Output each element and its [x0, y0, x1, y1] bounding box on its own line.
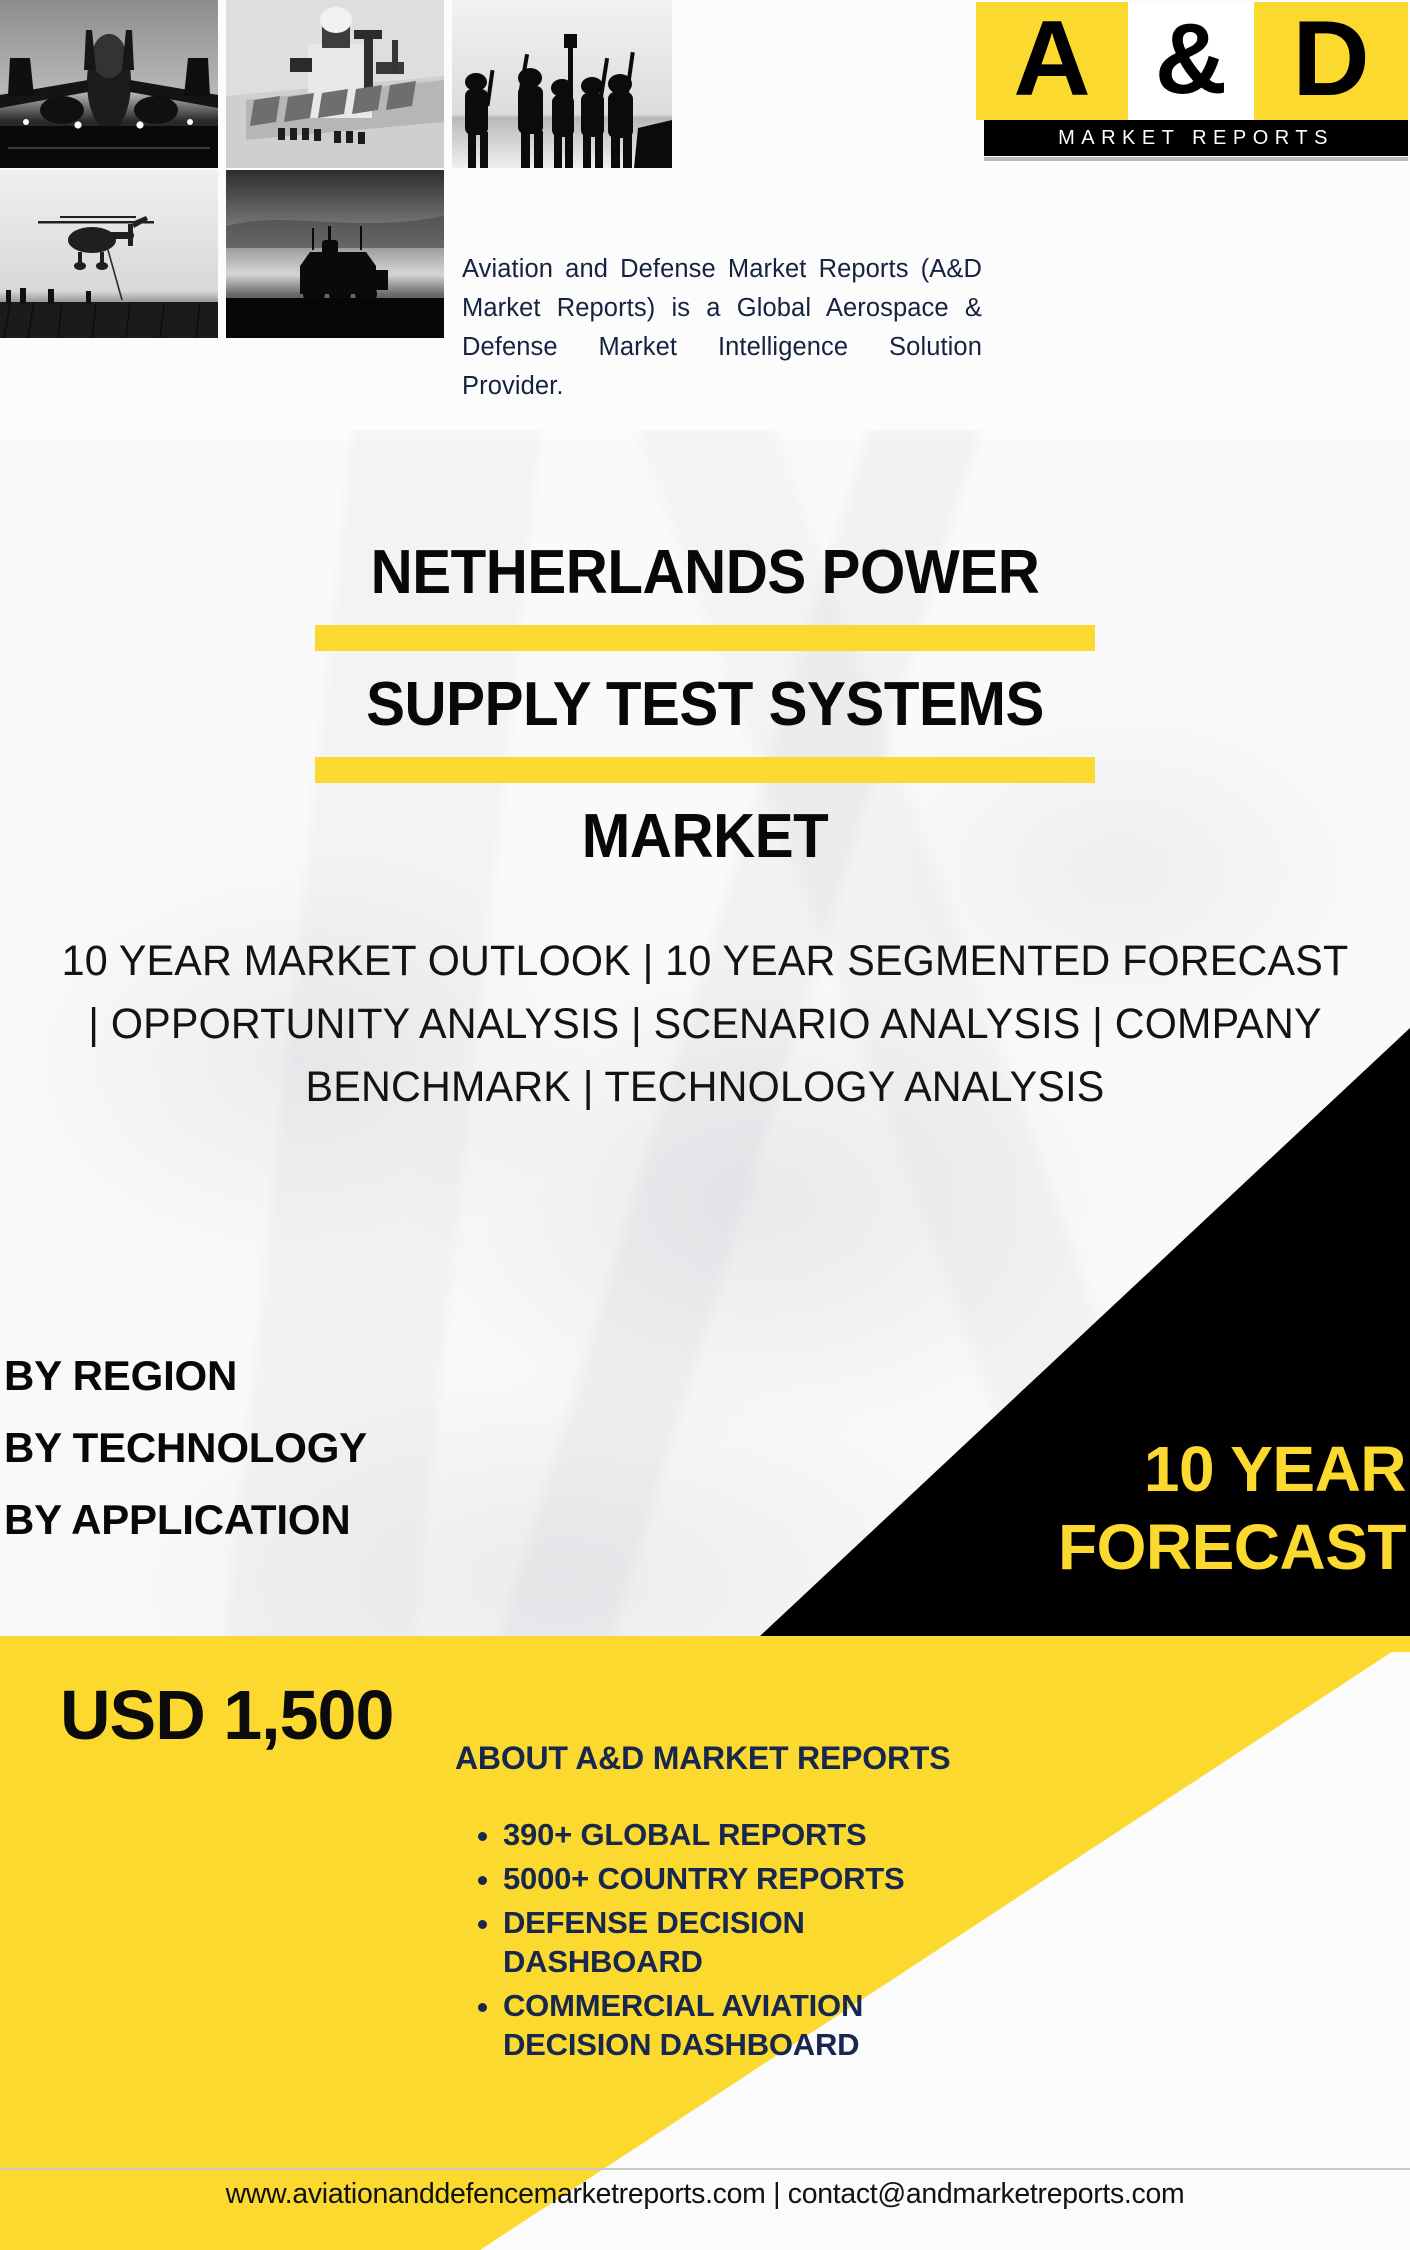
price-value: USD 1,500 — [60, 1675, 393, 1755]
about-heading: ABOUT A&D MARKET REPORTS — [455, 1740, 1000, 1777]
logo-tagline: MARKET REPORTS — [984, 120, 1408, 156]
logo-letter-a: A — [976, 2, 1128, 120]
photo-helicopter-troop-insertion — [0, 170, 218, 338]
logo-ampersand: & — [1128, 2, 1254, 120]
footer-divider — [0, 2168, 1410, 2170]
logo-letter-row: A & D — [976, 2, 1408, 120]
logo-letter-d: D — [1254, 2, 1408, 120]
report-subtitle: 10 YEAR MARKET OUTLOOK | 10 YEAR SEGMENT… — [57, 930, 1353, 1119]
forecast-badge-line-2: FORECAST — [710, 1508, 1406, 1586]
logo-bottom-rule — [984, 157, 1408, 161]
report-cover-page: A & D MARKET REPORTS Aviation and Defens… — [0, 0, 1410, 2250]
about-section: ABOUT A&D MARKET REPORTS 390+ GLOBAL REP… — [455, 1740, 1000, 2069]
about-bullet-list: 390+ GLOBAL REPORTS 5000+ COUNTRY REPORT… — [455, 1815, 1000, 2064]
title-line-2: SUPPLY TEST SYSTEMS — [42, 667, 1367, 743]
segmentation-item-technology: BY TECHNOLOGY — [4, 1412, 367, 1484]
title-line-3: MARKET — [42, 799, 1367, 875]
report-title: NETHERLANDS POWER SUPPLY TEST SYSTEMS MA… — [0, 535, 1410, 875]
segmentation-list: BY REGION BY TECHNOLOGY BY APPLICATION — [4, 1340, 367, 1556]
about-bullet-defense-dashboard: DEFENSE DECISION DASHBOARD — [503, 1903, 1000, 1981]
forecast-badge-line-1: 10 YEAR — [710, 1430, 1406, 1508]
company-intro-text: Aviation and Defense Market Reports (A&D… — [462, 250, 982, 406]
about-accent-rule — [455, 1783, 1000, 1791]
forecast-badge: 10 YEAR FORECAST — [710, 1430, 1410, 1586]
title-accent-rule-1 — [315, 625, 1095, 651]
footer-contact: www.aviationanddefencemarketreports.com … — [14, 2178, 1396, 2211]
photo-aircraft-carrier-superstructure — [226, 0, 444, 168]
photo-soldiers-silhouette-patrol — [452, 0, 672, 168]
about-bullet-global-reports: 390+ GLOBAL REPORTS — [503, 1815, 1000, 1854]
photo-armored-vehicle-at-dusk — [226, 170, 444, 338]
segmentation-item-region: BY REGION — [4, 1340, 367, 1412]
about-bullet-country-reports: 5000+ COUNTRY REPORTS — [503, 1859, 1000, 1898]
about-bullet-commercial-aviation-dashboard: COMMERCIAL AVIATION DECISION DASHBOARD — [503, 1986, 1000, 2064]
title-accent-rule-2 — [315, 757, 1095, 783]
photo-fighter-jet-on-carrier-deck — [0, 0, 218, 168]
title-line-1: NETHERLANDS POWER — [42, 535, 1367, 611]
segmentation-item-application: BY APPLICATION — [4, 1484, 367, 1556]
brand-logo: A & D MARKET REPORTS — [976, 2, 1408, 162]
